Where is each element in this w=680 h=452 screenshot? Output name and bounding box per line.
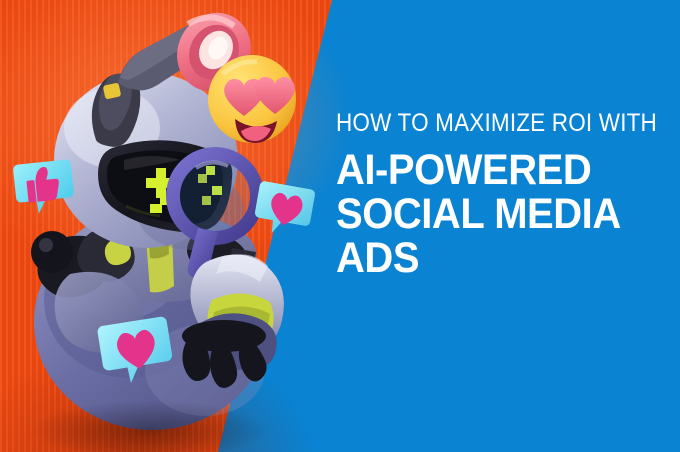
headline-line-1: AI-POWERED <box>336 148 645 192</box>
heart-bubble-right <box>251 177 317 240</box>
page-title: AI-POWERED SOCIAL MEDIA ADS <box>336 148 645 280</box>
headline-line-2: SOCIAL MEDIA <box>336 192 645 236</box>
promo-banner: HOW TO MAXIMIZE ROI WITH AI-POWERED SOCI… <box>0 0 680 452</box>
headline-line-3: ADS <box>336 236 645 280</box>
thumbs-up-bubble <box>11 155 77 217</box>
heart-bubble-bottom <box>95 313 176 389</box>
eyebrow-text: HOW TO MAXIMIZE ROI WITH <box>336 108 635 138</box>
headline-block: HOW TO MAXIMIZE ROI WITH AI-POWERED SOCI… <box>336 108 668 280</box>
heart-eyes-emoji <box>205 52 300 147</box>
